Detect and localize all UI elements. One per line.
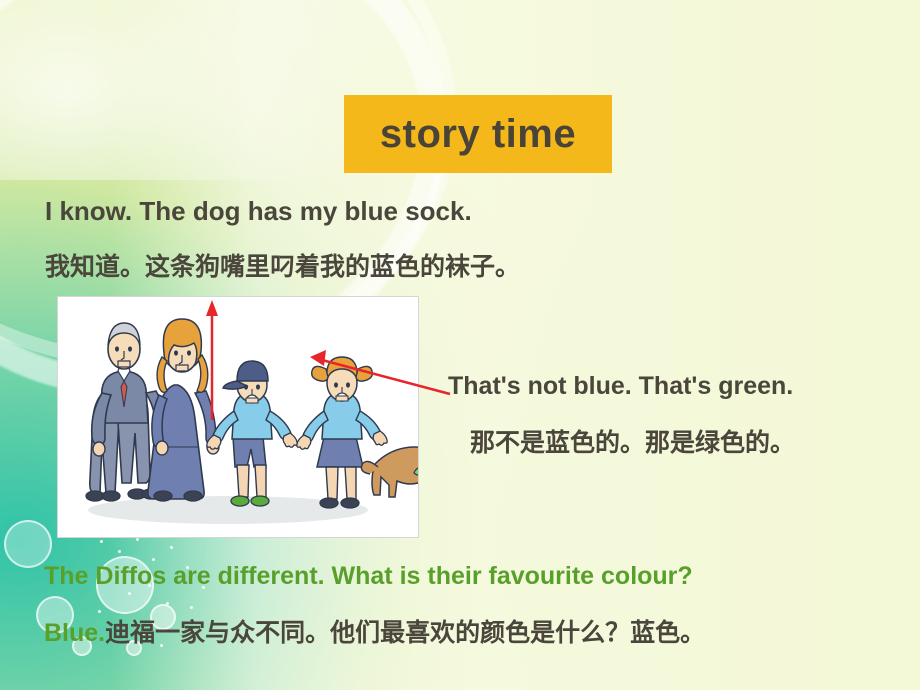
english-line-3: The Diffos are different. What is their … [44,562,693,591]
english-line-2: That's not blue. That's green. [448,372,793,401]
last-line-dark: 迪福一家与众不同。他们最喜欢的颜色是什么？蓝色。 [105,619,705,647]
story-illustration [57,296,419,538]
illustration-svg [58,297,418,537]
chinese-line-1: 我知道。这条狗嘴里叼着我的蓝色的袜子。 [45,247,520,283]
title-banner: story time [344,95,612,173]
last-line: Blue.迪福一家与众不同。他们最喜欢的颜色是什么？蓝色。 [44,613,705,649]
chinese-line-2: 那不是蓝色的。那是绿色的。 [470,423,795,459]
slide: story time I know. The dog has my blue s… [0,0,920,690]
decorative-bubble [4,520,52,568]
page-title: story time [380,112,576,157]
last-line-green: Blue. [44,619,105,647]
english-line-1: I know. The dog has my blue sock. [45,196,472,227]
